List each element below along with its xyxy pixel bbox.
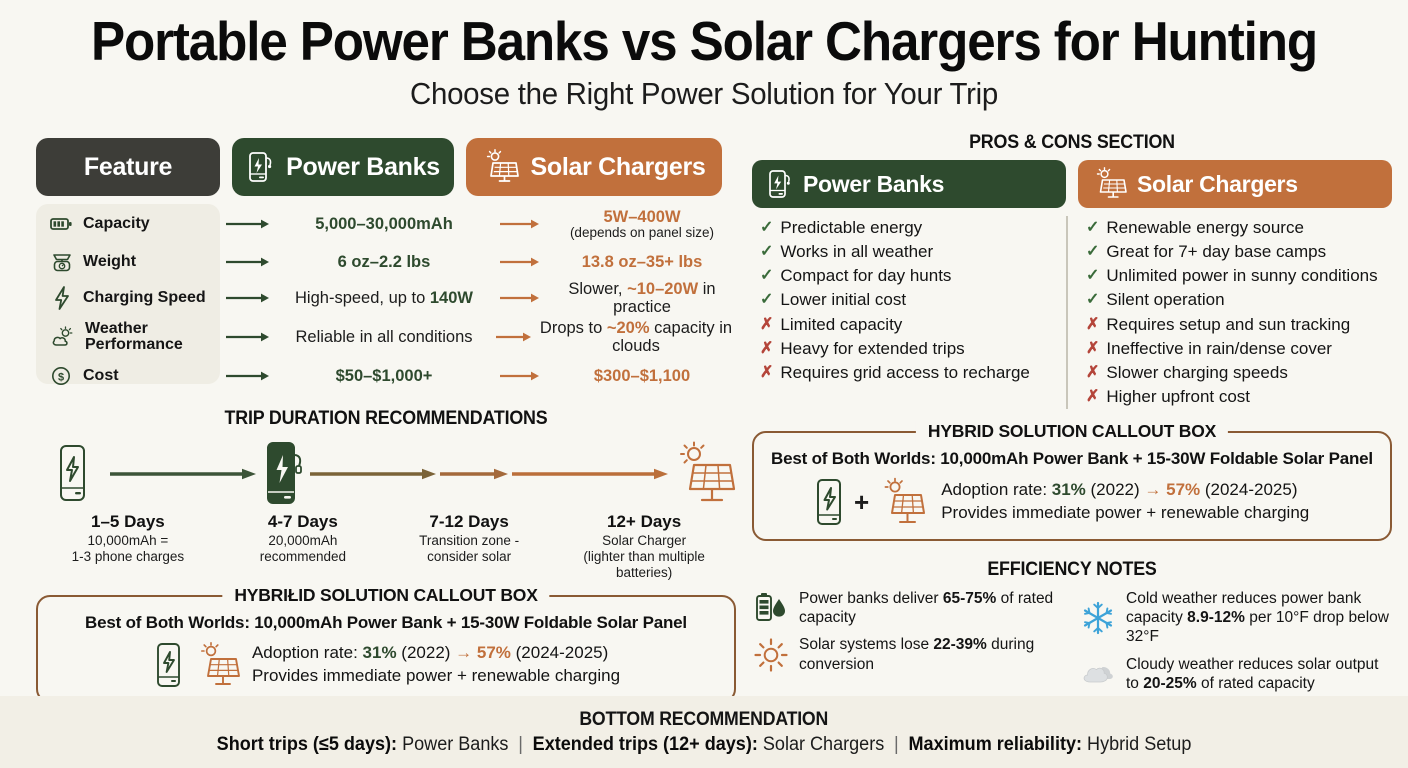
page-title: Portable Power Banks vs Solar Chargers f… xyxy=(49,14,1358,69)
arrow-to-solar xyxy=(492,331,536,343)
adoption-value-old: 31% xyxy=(363,643,397,662)
short-trips-value: Power Banks xyxy=(402,734,508,755)
timeline-arrow-1 xyxy=(108,467,258,481)
callout-text: Adoption rate: 31% (2022) → 57% (2024-20… xyxy=(252,642,620,688)
pros-cons-header-power-banks: Power Banks xyxy=(752,160,1066,208)
feature-cell: Charging Speed xyxy=(36,285,220,311)
list-item: ✗Heavy for extended trips xyxy=(760,337,1066,361)
list-item-label: Silent operation xyxy=(1106,288,1224,312)
table-row: $ Cost $50–$1,000+ $300–$1,100 xyxy=(36,358,736,394)
callout-body: Adoption rate: 31% (2022) → 57% (2024-20… xyxy=(52,641,720,689)
list-item-label: Slower charging speeds xyxy=(1106,361,1287,385)
trip-stage: 7-12 Days Transition zone - consider sol… xyxy=(386,512,552,581)
solar-panel-icon xyxy=(670,441,736,507)
check-icon: ✓ xyxy=(1086,288,1099,312)
hybrid-callout-box-left: HYBRIŁID SOLUTION CALLOUT BOX Best of Bo… xyxy=(36,595,736,703)
power-banks-pros-cons-list: ✓Predictable energy ✓Works in all weathe… xyxy=(752,216,1066,409)
feature-label: Charging Speed xyxy=(83,290,206,307)
arrow-to-solar xyxy=(492,370,548,382)
adoption-value-old: 31% xyxy=(1052,480,1086,499)
dollar-icon: $ xyxy=(50,364,74,388)
callout-adoption-line: Adoption rate: 31% (2022) → 57% (2024-20… xyxy=(941,479,1309,502)
pb-value-pre: High-speed, up to xyxy=(295,289,430,307)
solar-value-note: (depends on panel size) xyxy=(548,226,736,241)
list-item-label: Ineffective in rain/dense cover xyxy=(1106,337,1332,361)
list-item-label: Requires setup and sun tracking xyxy=(1106,313,1350,337)
column-header-power-banks-label: Power Banks xyxy=(286,153,440,182)
list-item-label: Predictable energy xyxy=(780,216,922,240)
pros-cons-header-solar-chargers: Solar Chargers xyxy=(1078,160,1392,208)
adoption-arrow-icon: → xyxy=(455,643,472,662)
list-item: ✓Silent operation xyxy=(1086,288,1392,312)
cross-icon: ✗ xyxy=(760,361,773,385)
list-item: ✓Unlimited power in sunny conditions xyxy=(1086,264,1392,288)
hybrid-callout-box-right: HYBRID SOLUTION CALLOUT BOX Best of Both… xyxy=(752,431,1392,541)
power-bank-icon xyxy=(246,150,276,184)
list-item: ✗Limited capacity xyxy=(760,313,1066,337)
right-column: PROS & CONS SECTION Power Banks xyxy=(752,132,1392,701)
power-bank-icon xyxy=(258,439,308,509)
trip-stage-desc: 10,000mAh = 1-3 phone charges xyxy=(36,533,220,565)
trip-stage-desc: Solar Charger (lighter than multiple bat… xyxy=(552,533,736,581)
note-value: 22-39% xyxy=(933,636,986,653)
extended-trips-value: Solar Chargers xyxy=(763,734,884,755)
check-icon: ✓ xyxy=(760,288,773,312)
cross-icon: ✗ xyxy=(760,337,773,361)
feature-label: Cost xyxy=(83,368,119,385)
callout-text: Adoption rate: 31% (2022) → 57% (2024-20… xyxy=(941,479,1309,525)
note-value: 65-75% xyxy=(943,590,996,607)
cross-icon: ✗ xyxy=(760,313,773,337)
callout-benefit-line: Provides immediate power + renewable cha… xyxy=(941,502,1309,525)
callout-title: HYBRIŁID SOLUTION CALLOUT BOX xyxy=(222,585,549,606)
callout-benefit-line: Provides immediate power + renewable cha… xyxy=(252,665,620,688)
solar-value: 13.8 oz–35+ lbs xyxy=(548,253,736,271)
solar-panel-icon xyxy=(877,477,927,527)
efficiency-note-text: Cold weather reduces power bank capacity… xyxy=(1126,589,1392,647)
trip-stage: 12+ Days Solar Charger (lighter than mul… xyxy=(552,512,736,581)
list-item: ✓Predictable energy xyxy=(760,216,1066,240)
power-bank-value: Reliable in all conditions xyxy=(276,328,492,346)
arrow-to-solar xyxy=(492,256,548,268)
list-item-label: Heavy for extended trips xyxy=(780,337,964,361)
feature-label: Weight xyxy=(83,254,136,271)
power-bank-value: 5,000–30,000mAh xyxy=(276,215,492,233)
efficiency-note: Solar systems lose 22-39% during convers… xyxy=(752,635,1065,673)
feature-cell: $ Cost xyxy=(36,364,220,388)
cross-icon: ✗ xyxy=(1086,313,1099,337)
solar-panel-icon xyxy=(1092,167,1128,201)
efficiency-note: Cold weather reduces power bank capacity… xyxy=(1079,589,1392,647)
infographic-root: Portable Power Banks vs Solar Chargers f… xyxy=(0,0,1408,768)
power-bank-icon xyxy=(766,168,794,200)
check-icon: ✓ xyxy=(1086,216,1099,240)
list-item: ✗Higher upfront cost xyxy=(1086,385,1392,409)
solar-value-main: 5W–400W xyxy=(603,208,680,226)
table-row: Capacity 5,000–30,000mAh 5W–400W (depend… xyxy=(36,204,736,244)
arrow-to-power-banks xyxy=(220,370,276,382)
efficiency-notes-grid: Power banks deliver 65-75% of rated capa… xyxy=(752,589,1392,701)
power-bank-icon xyxy=(152,641,184,689)
power-bank-value: High-speed, up to 140W xyxy=(276,289,492,307)
weather-icon xyxy=(50,325,76,349)
check-icon: ✓ xyxy=(760,216,773,240)
list-item: ✓Great for 7+ day base camps xyxy=(1086,240,1392,264)
cross-icon: ✗ xyxy=(1086,385,1099,409)
feature-cell: Weight xyxy=(36,250,220,274)
trip-stage-title: 7-12 Days xyxy=(386,512,552,532)
check-icon: ✓ xyxy=(1086,240,1099,264)
list-item-label: Works in all weather xyxy=(780,240,933,264)
feature-label: Weather Performance xyxy=(85,321,220,354)
efficiency-note-text: Power banks deliver 65-75% of rated capa… xyxy=(799,589,1065,627)
trip-stage: 1–5 Days 10,000mAh = 1-3 phone charges xyxy=(36,512,220,581)
feature-label: Capacity xyxy=(83,216,150,233)
arrow-to-power-banks xyxy=(220,331,276,343)
cloud-icon xyxy=(1079,655,1117,693)
header: Portable Power Banks vs Solar Chargers f… xyxy=(0,0,1408,112)
list-item-label: Unlimited power in sunny conditions xyxy=(1106,264,1377,288)
check-icon: ✓ xyxy=(760,264,773,288)
sun-icon xyxy=(752,636,790,674)
arrow-to-power-banks xyxy=(220,292,276,304)
callout-subtitle: Best of Both Worlds: 10,000mAh Power Ban… xyxy=(52,613,720,633)
pros-cons-heading: PROS & CONS SECTION xyxy=(771,132,1373,154)
callout-body: + xyxy=(768,477,1376,527)
timeline-arrow-2 xyxy=(308,467,438,481)
svg-text:$: $ xyxy=(58,372,64,384)
power-bank-value: 6 oz–2.2 lbs xyxy=(276,253,492,271)
arrow-to-power-banks xyxy=(220,256,276,268)
adoption-arrow-icon: → xyxy=(1144,480,1161,499)
adoption-post: (2024-2025) xyxy=(1200,480,1297,499)
table-row: Weight 6 oz–2.2 lbs 13.8 oz–35+ lbs xyxy=(36,244,736,280)
extended-trips-label: Extended trips (12+ days): xyxy=(533,734,758,755)
cross-icon: ✗ xyxy=(1086,361,1099,385)
short-trips-label: Short trips (≤5 days): xyxy=(217,734,397,755)
solar-value: Drops to ~20% capacity in clouds xyxy=(536,319,736,355)
efficiency-note-text: Cloudy weather reduces solar output to 2… xyxy=(1126,655,1392,693)
bolt-icon xyxy=(50,285,74,311)
trip-stage-desc: 20,000mAh recommended xyxy=(220,533,386,565)
efficiency-column-left: Power banks deliver 65-75% of rated capa… xyxy=(752,589,1065,701)
column-header-power-banks: Power Banks xyxy=(232,138,454,196)
arrow-to-solar xyxy=(492,218,548,230)
efficiency-note: Power banks deliver 65-75% of rated capa… xyxy=(752,589,1065,627)
list-item-label: Limited capacity xyxy=(780,313,902,337)
reliability-label: Maximum reliability: xyxy=(908,734,1082,755)
reliability-value: Hybrid Setup xyxy=(1087,734,1191,755)
cross-icon: ✗ xyxy=(1086,337,1099,361)
list-item: ✓Compact for day hunts xyxy=(760,264,1066,288)
column-header-solar-chargers: Solar Chargers xyxy=(466,138,722,196)
list-item: ✓Renewable energy source xyxy=(1086,216,1392,240)
left-column: Feature Power Banks xyxy=(36,138,736,703)
pros-cons-headers: Power Banks xyxy=(752,160,1392,208)
list-item-label: Requires grid access to recharge xyxy=(780,361,1029,385)
adoption-mid: (2022) xyxy=(1086,480,1145,499)
list-item: ✗Ineffective in rain/dense cover xyxy=(1086,337,1392,361)
column-header-solar-chargers-label: Solar Chargers xyxy=(530,153,705,182)
scale-icon xyxy=(50,250,74,274)
check-icon: ✓ xyxy=(760,240,773,264)
trip-stage-labels: 1–5 Days 10,000mAh = 1-3 phone charges 4… xyxy=(36,512,736,581)
efficiency-notes-heading: EFFICIENCY NOTES xyxy=(771,559,1373,581)
efficiency-column-right: Cold weather reduces power bank capacity… xyxy=(1079,589,1392,701)
solar-panel-icon xyxy=(194,641,242,689)
timeline-arrow-3 xyxy=(438,467,510,481)
note-value: 8.9-12% xyxy=(1187,609,1245,626)
column-header-feature: Feature xyxy=(36,138,220,196)
trip-duration-section: TRIP DURATION RECOMMENDATIONS xyxy=(36,408,736,581)
note-pre: Solar systems lose xyxy=(799,636,933,653)
pb-value-highlight: 140W xyxy=(430,289,473,307)
trip-stage-desc: Transition zone - consider solar xyxy=(386,533,552,565)
solar-value-highlight: ~10–20W xyxy=(627,280,698,298)
solar-value-pre: Drops to xyxy=(540,319,607,337)
comparison-header-row: Feature Power Banks xyxy=(36,138,736,196)
column-header-feature-label: Feature xyxy=(84,153,172,182)
arrow-to-solar xyxy=(492,292,548,304)
adoption-mid: (2022) xyxy=(397,643,456,662)
separator-1: | xyxy=(513,734,527,755)
timeline-arrow-4 xyxy=(510,467,670,481)
adoption-value-new: 57% xyxy=(472,643,511,662)
solar-value-highlight: ~20% xyxy=(607,319,650,337)
phone-bolt-icon xyxy=(36,443,108,505)
battery-icon xyxy=(50,214,74,234)
list-item: ✓Works in all weather xyxy=(760,240,1066,264)
feature-cell: Capacity xyxy=(36,214,220,234)
battery-drop-icon xyxy=(752,589,790,627)
solar-value: Slower, ~10–20W in practice xyxy=(548,280,736,316)
efficiency-note: Cloudy weather reduces solar output to 2… xyxy=(1079,655,1392,693)
trip-stage-title: 12+ Days xyxy=(552,512,736,532)
list-item-label: Lower initial cost xyxy=(780,288,906,312)
bottom-recommendation-bar: BOTTOM RECOMMENDATION Short trips (≤5 da… xyxy=(0,696,1408,768)
list-item: ✗Slower charging speeds xyxy=(1086,361,1392,385)
solar-chargers-pros-cons-list: ✓Renewable energy source ✓Great for 7+ d… xyxy=(1066,216,1392,409)
callout-title: HYBRID SOLUTION CALLOUT BOX xyxy=(916,421,1228,442)
list-item: ✓Lower initial cost xyxy=(760,288,1066,312)
callout-adoption-line: Adoption rate: 31% (2022) → 57% (2024-20… xyxy=(252,642,620,665)
callout-subtitle: Best of Both Worlds: 10,000mAh Power Ban… xyxy=(768,449,1376,469)
solar-panel-icon xyxy=(482,149,520,185)
table-row: Charging Speed High-speed, up to 140W Sl… xyxy=(36,280,736,316)
list-item-label: Higher upfront cost xyxy=(1106,385,1250,409)
solar-value: $300–$1,100 xyxy=(548,367,736,385)
adoption-value-new: 57% xyxy=(1161,480,1200,499)
trip-stage: 4-7 Days 20,000mAh recommended xyxy=(220,512,386,581)
adoption-pre: Adoption rate: xyxy=(941,480,1052,499)
solar-value: 5W–400W (depends on panel size) xyxy=(548,208,736,241)
trip-duration-heading: TRIP DURATION RECOMMENDATIONS xyxy=(57,408,715,430)
page-subtitle: Choose the Right Power Solution for Your… xyxy=(35,76,1373,112)
table-row: Weather Performance Reliable in all cond… xyxy=(36,316,736,358)
list-item-label: Great for 7+ day base camps xyxy=(1106,240,1326,264)
list-item: ✗Requires grid access to recharge xyxy=(760,361,1066,385)
list-item-label: Compact for day hunts xyxy=(780,264,951,288)
solar-value-pre: Slower, xyxy=(568,280,627,298)
feature-cell: Weather Performance xyxy=(36,321,220,354)
pros-cons-header-solar-chargers-label: Solar Chargers xyxy=(1137,171,1298,198)
adoption-pre: Adoption rate: xyxy=(252,643,363,662)
comparison-table: Capacity 5,000–30,000mAh 5W–400W (depend… xyxy=(36,204,736,394)
plus-icon: + xyxy=(854,487,869,518)
separator-2: | xyxy=(889,734,903,755)
trip-stage-title: 1–5 Days xyxy=(36,512,220,532)
list-item-label: Renewable energy source xyxy=(1106,216,1304,240)
arrow-to-power-banks xyxy=(220,218,276,230)
efficiency-note-text: Solar systems lose 22-39% during convers… xyxy=(799,635,1065,673)
pros-cons-lists: ✓Predictable energy ✓Works in all weathe… xyxy=(752,216,1392,409)
note-value: 20-25% xyxy=(1143,675,1196,692)
bottom-recommendation-title: BOTTOM RECOMMENDATION xyxy=(580,709,829,731)
pros-cons-header-power-banks-label: Power Banks xyxy=(803,171,944,198)
note-pre: Power banks deliver xyxy=(799,590,943,607)
bottom-recommendation-line: Short trips (≤5 days): Power Banks | Ext… xyxy=(217,734,1192,756)
adoption-post: (2024-2025) xyxy=(511,643,608,662)
trip-timeline xyxy=(36,438,736,510)
trip-stage-title: 4-7 Days xyxy=(220,512,386,532)
power-bank-icon xyxy=(812,477,846,527)
power-bank-value: $50–$1,000+ xyxy=(276,367,492,385)
efficiency-notes-section: EFFICIENCY NOTES xyxy=(752,559,1392,701)
check-icon: ✓ xyxy=(1086,264,1099,288)
list-item: ✗Requires setup and sun tracking xyxy=(1086,313,1392,337)
note-post: of rated capacity xyxy=(1197,675,1315,692)
snowflake-icon xyxy=(1079,599,1117,637)
